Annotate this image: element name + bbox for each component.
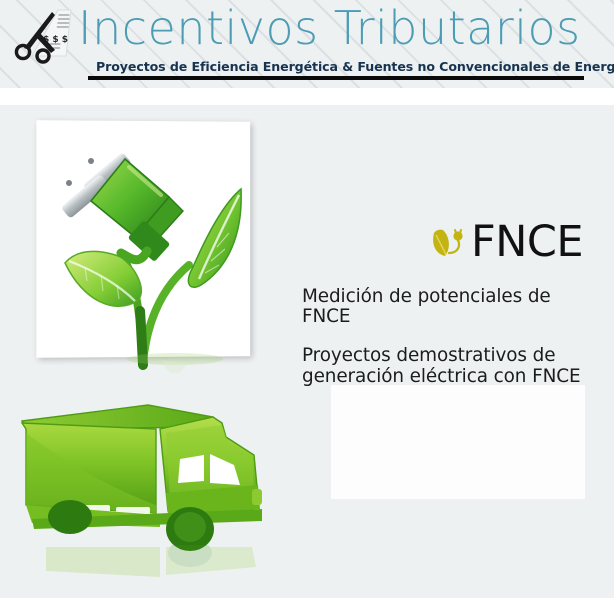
section-transporte: Transporte Promover el uso de vehículos … bbox=[0, 385, 614, 598]
title-underline-rule bbox=[88, 76, 584, 80]
scissors-cutting-receipt-icon: $ $ $ bbox=[14, 6, 88, 80]
header-banner: $ $ $ Incentivos Tributarios bbox=[0, 0, 614, 88]
page-subtitle: Proyectos de Eficiencia Energética & Fue… bbox=[96, 59, 614, 74]
leaf-plug-icon bbox=[427, 223, 467, 263]
list-item: Medición de potenciales de FNCE bbox=[302, 287, 602, 327]
green-plug-with-leaves-image bbox=[43, 125, 251, 377]
fnce-heading-row: FNCE bbox=[427, 221, 583, 264]
page-title: Incentivos Tributarios bbox=[78, 3, 581, 55]
infographic-page: $ $ $ Incentivos Tributarios Proyectos d… bbox=[0, 0, 614, 598]
list-item: Proyectos demostrativos de generación el… bbox=[302, 346, 602, 386]
fnce-heading-text: FNCE bbox=[471, 221, 583, 264]
header-divider-strip bbox=[0, 88, 614, 105]
green-delivery-truck-image bbox=[8, 393, 293, 558]
transporte-text-backdrop bbox=[331, 385, 585, 499]
truck-image-reflection bbox=[40, 545, 290, 590]
section-fnce: FNCE Medición de potenciales de FNCE Pro… bbox=[0, 105, 614, 385]
